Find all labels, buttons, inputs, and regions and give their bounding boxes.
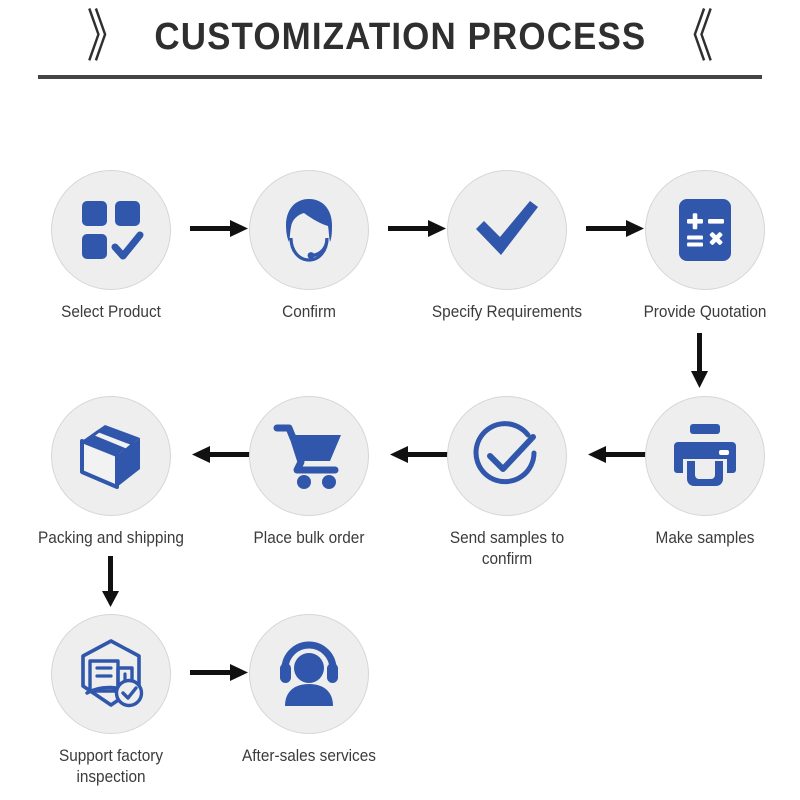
calculator-icon <box>672 197 738 263</box>
step-icon-circle <box>645 170 765 290</box>
step-icon-circle <box>249 170 369 290</box>
step-label: Confirm <box>230 302 388 323</box>
arrow-quotation-to-make-samples <box>689 333 711 389</box>
step-icon-circle <box>51 614 171 734</box>
step-packing-and-shipping[interactable]: Packing and shipping <box>26 396 196 549</box>
step-after-sales-services[interactable]: After-sales services <box>224 614 394 767</box>
step-select-product[interactable]: Select Product <box>26 170 196 323</box>
factory-inspection-shield-icon <box>73 636 149 712</box>
step-label: After-sales services <box>230 746 388 767</box>
step-label: Send samples to confirm <box>428 528 586 569</box>
step-label: Place bulk order <box>230 528 388 549</box>
page-title-text: CUSTOMIZATION PROCESS <box>154 16 646 59</box>
step-label: Specify Requirements <box>428 302 586 323</box>
step-icon-circle <box>51 170 171 290</box>
step-make-samples[interactable]: Make samples <box>620 396 790 549</box>
step-send-samples-to-confirm[interactable]: Send samples to confirm <box>422 396 592 569</box>
step-icon-circle <box>249 614 369 734</box>
step-label: Select Product <box>32 302 190 323</box>
chevron-right-decoration: 《 <box>671 9 713 66</box>
step-confirm[interactable]: Confirm <box>224 170 394 323</box>
step-specify-requirements[interactable]: Specify Requirements <box>422 170 592 323</box>
arrow-packing-to-inspection <box>100 556 122 608</box>
step-provide-quotation[interactable]: Provide Quotation <box>620 170 790 323</box>
step-support-factory-inspection[interactable]: Support factory inspection <box>26 614 196 787</box>
step-icon-circle <box>51 396 171 516</box>
headset-person-icon <box>273 638 345 710</box>
printer-icon <box>669 420 741 492</box>
package-box-icon <box>74 419 148 493</box>
shopping-cart-icon <box>273 420 345 492</box>
checkmark-icon <box>470 193 544 267</box>
check-circle-icon <box>470 419 544 493</box>
step-place-bulk-order[interactable]: Place bulk order <box>224 396 394 549</box>
step-icon-circle <box>447 170 567 290</box>
step-icon-circle <box>249 396 369 516</box>
chevron-left-decoration: 》 <box>87 9 129 66</box>
step-label: Support factory inspection <box>32 746 190 787</box>
page-header: 》 CUSTOMIZATION PROCESS 《 <box>0 0 800 100</box>
step-icon-circle <box>645 396 765 516</box>
grid-check-icon <box>76 195 146 265</box>
step-icon-circle <box>447 396 567 516</box>
support-agent-woman-icon <box>273 194 345 266</box>
step-label: Make samples <box>626 528 784 549</box>
title-divider <box>38 75 762 79</box>
step-label: Packing and shipping <box>32 528 190 549</box>
page-title: 》 CUSTOMIZATION PROCESS 《 <box>0 8 800 66</box>
step-label: Provide Quotation <box>626 302 784 323</box>
